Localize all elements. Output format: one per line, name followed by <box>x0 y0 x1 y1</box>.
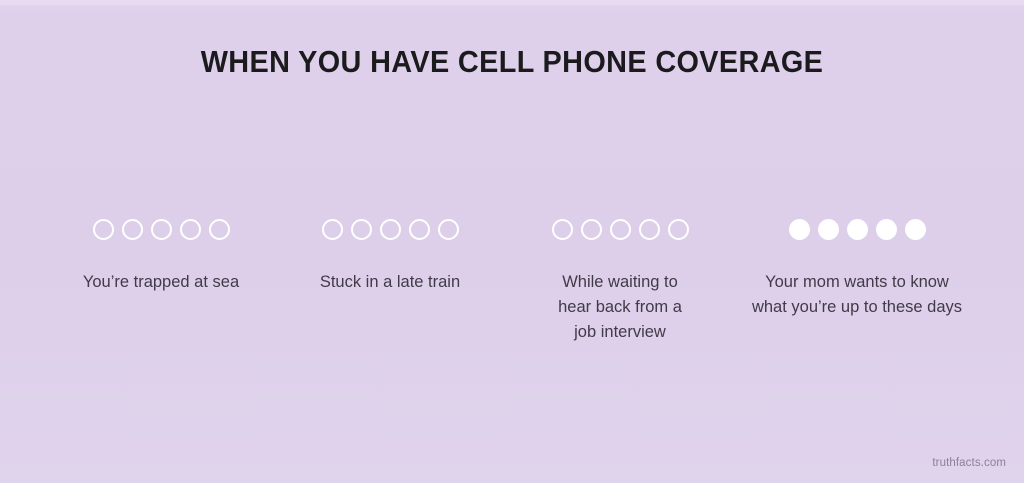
column-caption: Stuck in a late train <box>282 270 498 295</box>
signal-dot-empty <box>151 219 172 240</box>
caption-line: While waiting to <box>514 270 726 295</box>
column-mom-calling: Your mom wants to know what you’re up to… <box>728 214 986 320</box>
page-title: WHEN YOU HAVE CELL PHONE COVERAGE <box>36 44 988 80</box>
signal-dot-empty <box>639 219 660 240</box>
signal-dot-filled <box>789 219 810 240</box>
caption-line: job interview <box>514 320 726 345</box>
column-caption: You’re trapped at sea <box>48 270 274 295</box>
signal-dot-empty <box>180 219 201 240</box>
signal-dots-group <box>48 214 274 244</box>
signal-dot-filled <box>818 219 839 240</box>
signal-dot-empty <box>668 219 689 240</box>
signal-dot-empty <box>209 219 230 240</box>
signal-dot-empty <box>409 219 430 240</box>
signal-dot-empty <box>351 219 372 240</box>
signal-dot-empty <box>93 219 114 240</box>
signal-dot-filled <box>905 219 926 240</box>
caption-line: what you’re up to these days <box>728 295 986 320</box>
caption-line: hear back from a <box>514 295 726 320</box>
signal-dot-empty <box>610 219 631 240</box>
signal-dot-filled <box>876 219 897 240</box>
watermark-credit: truthfacts.com <box>932 457 1006 469</box>
caption-line: You’re trapped at sea <box>48 270 274 295</box>
signal-dot-empty <box>122 219 143 240</box>
signal-columns: You’re trapped at sea Stuck in a late tr… <box>0 214 1024 374</box>
column-job-interview: While waiting to hear back from a job in… <box>514 214 726 345</box>
signal-dot-filled <box>847 219 868 240</box>
column-caption: Your mom wants to know what you’re up to… <box>728 270 986 320</box>
signal-dot-empty <box>380 219 401 240</box>
signal-dots-group <box>514 214 726 244</box>
caption-line: Your mom wants to know <box>728 270 986 295</box>
signal-dot-empty <box>581 219 602 240</box>
signal-dot-empty <box>322 219 343 240</box>
column-caption: While waiting to hear back from a job in… <box>514 270 726 345</box>
signal-dots-group <box>728 214 986 244</box>
poster-canvas: WHEN YOU HAVE CELL PHONE COVERAGE You’re… <box>0 0 1024 483</box>
signal-dot-empty <box>438 219 459 240</box>
column-late-train: Stuck in a late train <box>282 214 498 295</box>
column-trapped-at-sea: You’re trapped at sea <box>48 214 274 295</box>
signal-dots-group <box>282 214 498 244</box>
signal-dot-empty <box>552 219 573 240</box>
caption-line: Stuck in a late train <box>282 270 498 295</box>
